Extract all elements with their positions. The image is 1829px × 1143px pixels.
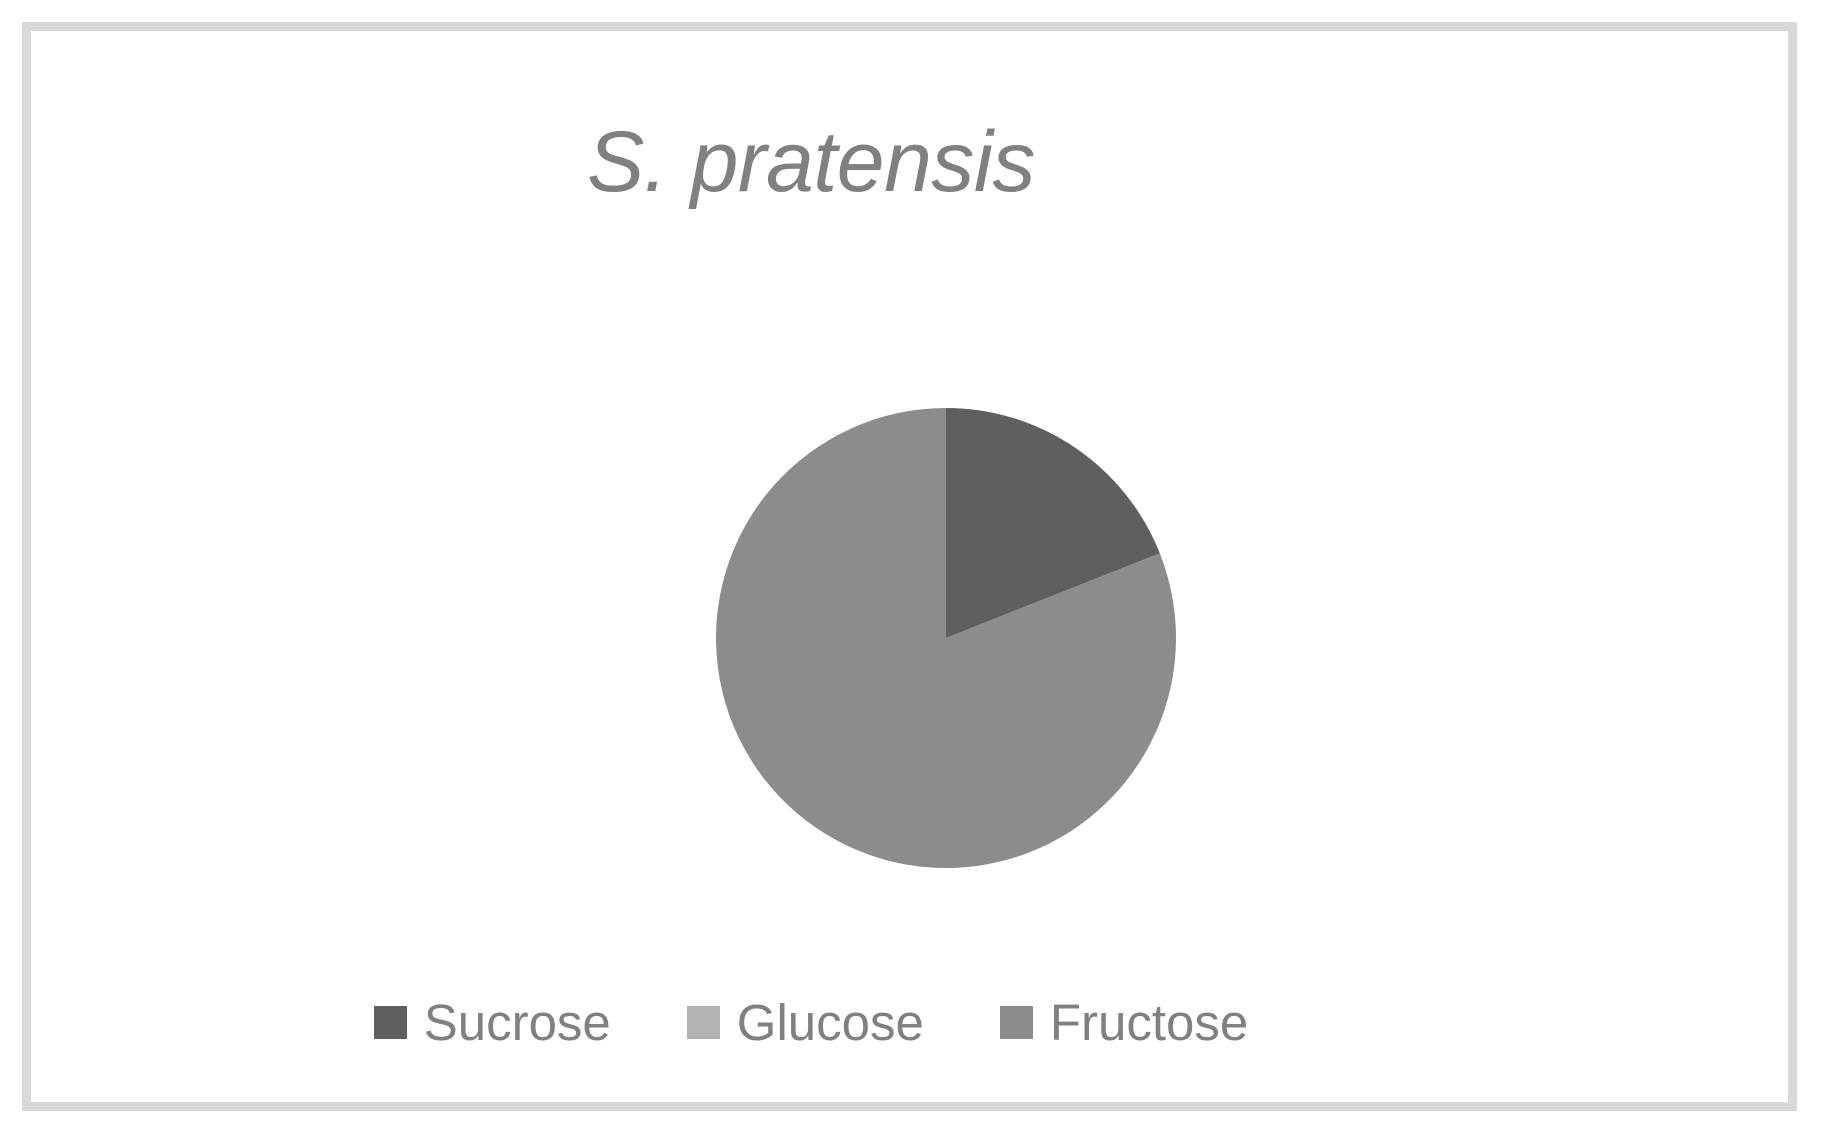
page-title: S. pratensis <box>31 117 1591 207</box>
legend-swatch-glucose-icon <box>687 1006 720 1039</box>
chart-frame: S. pratensis SucroseGlucoseFructose <box>22 22 1797 1111</box>
legend-entry-sucrose[interactable]: Sucrose <box>374 997 611 1048</box>
legend-label: Glucose <box>737 997 924 1048</box>
legend-entry-glucose[interactable]: Glucose <box>687 997 924 1048</box>
pie-chart-plot-area <box>716 408 1176 868</box>
legend-label: Sucrose <box>424 997 611 1048</box>
legend-swatch-sucrose-icon <box>374 1006 407 1039</box>
pie-slice-group <box>716 408 1176 868</box>
chart-legend: SucroseGlucoseFructose <box>31 997 1591 1048</box>
legend-entry-fructose[interactable]: Fructose <box>1000 997 1248 1048</box>
chart-canvas: S. pratensis SucroseGlucoseFructose <box>0 0 1829 1143</box>
legend-swatch-fructose-icon <box>1000 1006 1033 1039</box>
legend-label: Fructose <box>1050 997 1248 1048</box>
pie-chart-svg <box>716 408 1176 868</box>
